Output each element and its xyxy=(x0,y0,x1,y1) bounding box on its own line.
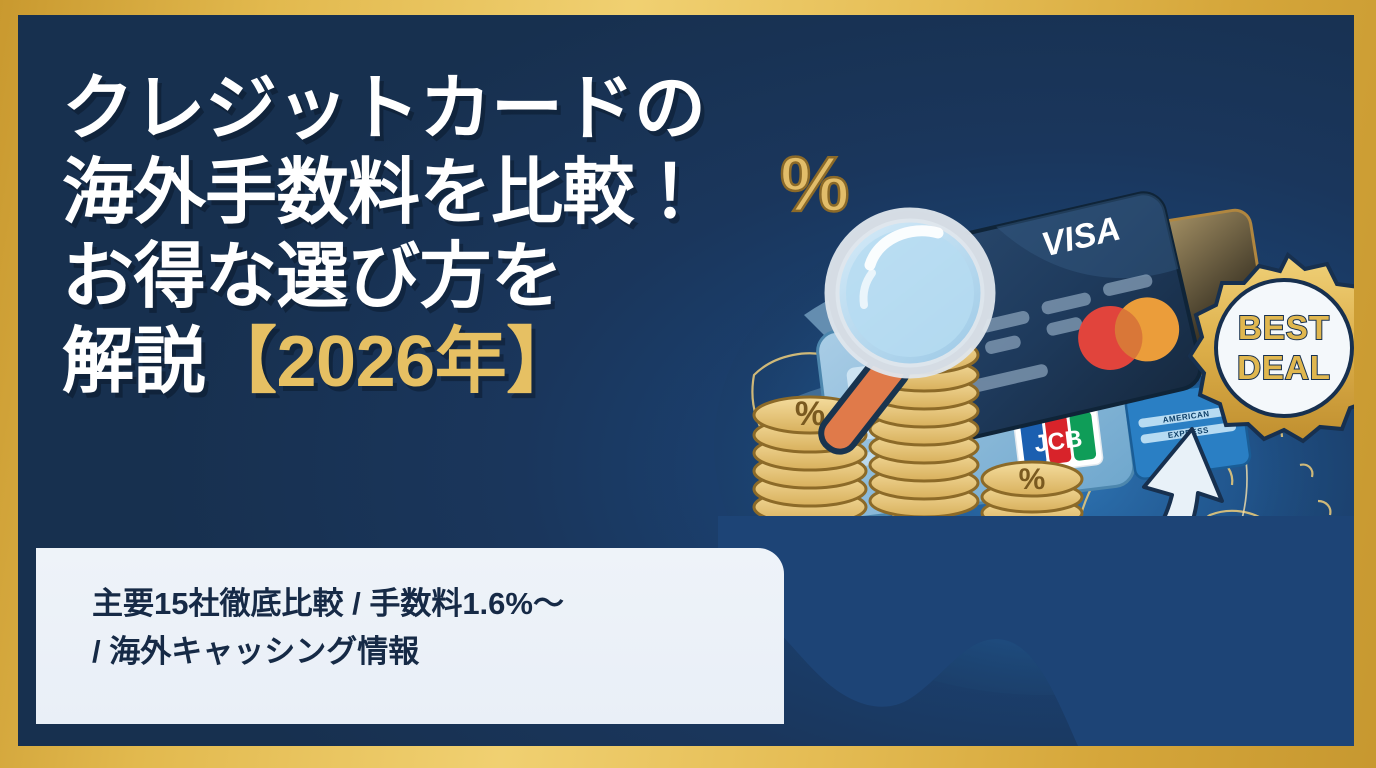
headline-line-4-prefix: 解説 xyxy=(62,322,205,402)
banner-frame: JCB AMERICAN EXPRESS xyxy=(0,0,1376,768)
subtitle-panel: 主要15社徹底比較 / 手数料1.6%〜 / 海外キャッシング情報 xyxy=(36,548,784,724)
headline-year-accent: 【2026年】 xyxy=(205,322,578,402)
subtitle-line-1: 主要15社徹底比較 / 手数料1.6%〜 xyxy=(92,580,744,628)
headline-line-1: クレジットカードの xyxy=(62,67,752,151)
subtitle-line-2: / 海外キャッシング情報 xyxy=(92,628,744,676)
headline-line-2: 海外手数料を比較！ xyxy=(62,151,752,235)
svg-text:%: % xyxy=(1019,463,1046,496)
svg-text:BEST: BEST xyxy=(1238,309,1330,346)
percent-symbol-icon: % xyxy=(780,140,849,228)
headline-line-3: お得な選び方を xyxy=(62,235,752,319)
banner-stage: JCB AMERICAN EXPRESS xyxy=(18,15,1354,746)
illustration-panel: JCB AMERICAN EXPRESS xyxy=(714,15,1354,746)
headline-line-4: 解説【2026年】 xyxy=(62,320,752,404)
subtitle-text: 主要15社徹底比較 / 手数料1.6%〜 / 海外キャッシング情報 xyxy=(92,580,744,676)
svg-text:DEAL: DEAL xyxy=(1237,349,1331,386)
coin-stack-right: % xyxy=(982,462,1082,544)
headline-block: クレジットカードの 海外手数料を比較！ お得な選び方を 解説【2026年】 xyxy=(62,67,752,404)
